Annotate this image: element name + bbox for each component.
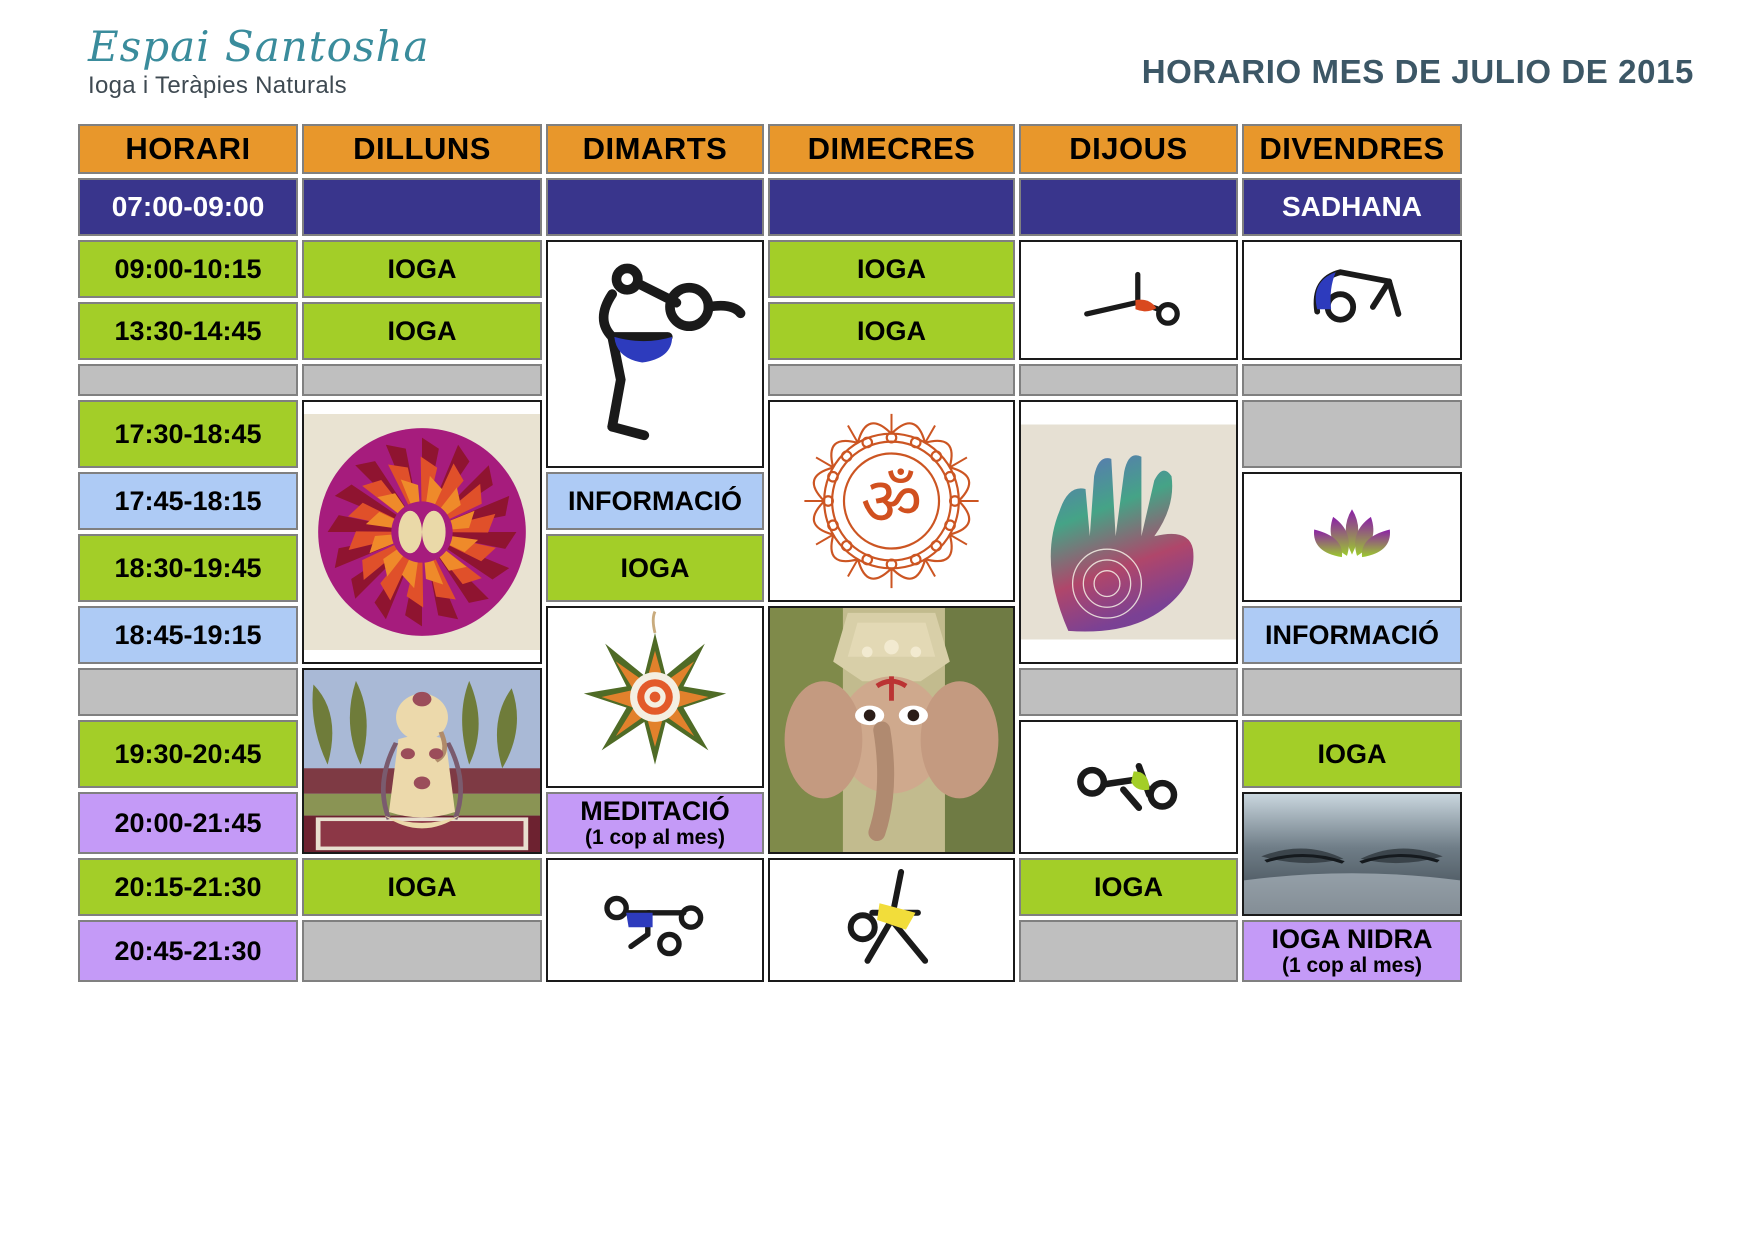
cell-dimecres-spacer-1	[768, 364, 1015, 396]
cell-dilluns-1330-label: IOGA	[387, 316, 456, 347]
time-slot-1: 07:00-09:00	[78, 178, 298, 236]
artwork-yoga-pose-shoulderstand	[1242, 240, 1462, 360]
cell-dimarts-1830: IOGA	[546, 534, 764, 602]
time-slot-7: 18:30-19:45	[78, 534, 298, 602]
cell-divendres-2045-note: (1 cop al mes)	[1282, 955, 1422, 977]
cell-dimarts-2000: MEDITACIÓ(1 cop al mes)	[546, 792, 764, 854]
time-slot-13-label: 20:45-21:30	[114, 936, 261, 967]
column-header-horari-label: HORARI	[125, 131, 250, 167]
cell-dimecres-0900: IOGA	[768, 240, 1015, 298]
column-header-dijous: DIJOUS	[1019, 124, 1238, 174]
cell-dijous-spacer-2	[1019, 668, 1238, 716]
cell-dimarts-1745-label: INFORMACIÓ	[568, 486, 742, 517]
schedule-table: HORARIDILLUNSDIMARTSDIMECRESDIJOUSDIVEND…	[78, 124, 1466, 982]
artwork-quilled-star-ornament	[546, 606, 764, 788]
artwork-lotus-mandala-hands	[302, 400, 542, 664]
cell-divendres-0700-label: SADHANA	[1282, 191, 1422, 223]
cell-divendres-1930-label: IOGA	[1317, 739, 1386, 770]
column-header-dilluns: DILLUNS	[302, 124, 542, 174]
column-header-dimecres: DIMECRES	[768, 124, 1015, 174]
cell-dijous-spacer-1	[1019, 364, 1238, 396]
artwork-yoga-pose-triangle	[768, 858, 1015, 982]
cell-dimarts-2000-note: (1 cop al mes)	[585, 827, 725, 849]
time-slot-8-label: 18:45-19:15	[114, 620, 261, 651]
time-slot-10: 19:30-20:45	[78, 720, 298, 788]
artwork-closed-eyes-relaxation	[1242, 792, 1462, 916]
cell-divendres-spacer-1	[1242, 364, 1462, 396]
cell-dilluns-2045	[302, 920, 542, 982]
column-header-dijous-label: DIJOUS	[1069, 131, 1187, 167]
cell-dimarts-2000-label: MEDITACIÓ	[580, 797, 730, 825]
cell-dimecres-1330: IOGA	[768, 302, 1015, 360]
cell-dijous-0700	[1019, 178, 1238, 236]
time-slot-3: 13:30-14:45	[78, 302, 298, 360]
time-slot-5-label: 17:30-18:45	[114, 419, 261, 450]
cell-divendres-1730	[1242, 400, 1462, 468]
time-slot-2-label: 09:00-10:15	[114, 254, 261, 285]
cell-dimarts-1830-label: IOGA	[620, 553, 689, 584]
time-slot-2: 09:00-10:15	[78, 240, 298, 298]
column-header-divendres-label: DIVENDRES	[1259, 131, 1444, 167]
column-header-dimarts-label: DIMARTS	[583, 131, 728, 167]
time-slot-10-label: 19:30-20:45	[114, 739, 261, 770]
cell-divendres-spacer-2	[1242, 668, 1462, 716]
cell-dilluns-0900-label: IOGA	[387, 254, 456, 285]
cell-dilluns-2015-label: IOGA	[387, 872, 456, 903]
time-slot-12-label: 20:15-21:30	[114, 872, 261, 903]
cell-divendres-2045-label: IOGA NIDRA	[1272, 925, 1433, 953]
cell-dilluns-2015: IOGA	[302, 858, 542, 916]
artwork-yoga-pose-standing	[546, 240, 764, 468]
time-slot-9	[78, 668, 298, 716]
artwork-om-mandala: ॐ	[768, 400, 1015, 602]
column-header-divendres: DIVENDRES	[1242, 124, 1462, 174]
cell-dimecres-0700	[768, 178, 1015, 236]
cell-divendres-1845: INFORMACIÓ	[1242, 606, 1462, 664]
artwork-mudra-hand-mandala	[1019, 400, 1238, 664]
time-slot-3-label: 13:30-14:45	[114, 316, 261, 347]
cell-dilluns-0900: IOGA	[302, 240, 542, 298]
time-slot-6-label: 17:45-18:15	[114, 486, 261, 517]
brand-name: Espai Santosha	[88, 26, 508, 68]
cell-dimarts-1745: INFORMACIÓ	[546, 472, 764, 530]
time-slot-5: 17:30-18:45	[78, 400, 298, 468]
cell-dijous-2015: IOGA	[1019, 858, 1238, 916]
cell-dimecres-1330-label: IOGA	[857, 316, 926, 347]
time-slot-11-label: 20:00-21:45	[114, 808, 261, 839]
time-slot-1-label: 07:00-09:00	[112, 191, 265, 223]
cell-dimarts-0700	[546, 178, 764, 236]
cell-dilluns-1330: IOGA	[302, 302, 542, 360]
artwork-purple-green-lotus	[1242, 472, 1462, 602]
cell-dilluns-0700	[302, 178, 542, 236]
artwork-yoga-pose-twist	[1019, 720, 1238, 854]
column-header-dimarts: DIMARTS	[546, 124, 764, 174]
time-slot-7-label: 18:30-19:45	[114, 553, 261, 584]
svg-text:ॐ: ॐ	[861, 463, 922, 541]
cell-dimecres-0900-label: IOGA	[857, 254, 926, 285]
time-slot-12: 20:15-21:30	[78, 858, 298, 916]
brand-logo: Espai Santosha Ioga i Teràpies Naturals	[88, 26, 508, 100]
time-slot-6: 17:45-18:15	[78, 472, 298, 530]
artwork-ganesha-portrait	[768, 606, 1015, 854]
artwork-yoga-pose-lying	[546, 858, 764, 982]
cell-divendres-1930: IOGA	[1242, 720, 1462, 788]
artwork-yoga-pose-reclining	[1019, 240, 1238, 360]
column-header-horari: HORARI	[78, 124, 298, 174]
time-slot-4	[78, 364, 298, 396]
cell-divendres-0700: SADHANA	[1242, 178, 1462, 236]
cell-dijous-2015-label: IOGA	[1094, 872, 1163, 903]
column-header-dimecres-label: DIMECRES	[808, 131, 976, 167]
page-title: HORARIO MES DE JULIO DE 2015	[1142, 53, 1694, 91]
brand-tagline: Ioga i Teràpies Naturals	[88, 72, 508, 100]
cell-dilluns-spacer-1	[302, 364, 542, 396]
cell-divendres-1845-label: INFORMACIÓ	[1265, 620, 1439, 651]
cell-divendres-2045: IOGA NIDRA(1 cop al mes)	[1242, 920, 1462, 982]
cell-dijous-2045	[1019, 920, 1238, 982]
time-slot-11: 20:00-21:45	[78, 792, 298, 854]
time-slot-8: 18:45-19:15	[78, 606, 298, 664]
artwork-chakra-meditation-figure	[302, 668, 542, 854]
page-header: Espai Santosha Ioga i Teràpies Naturals …	[0, 0, 1754, 118]
column-header-dilluns-label: DILLUNS	[353, 131, 491, 167]
time-slot-13: 20:45-21:30	[78, 920, 298, 982]
